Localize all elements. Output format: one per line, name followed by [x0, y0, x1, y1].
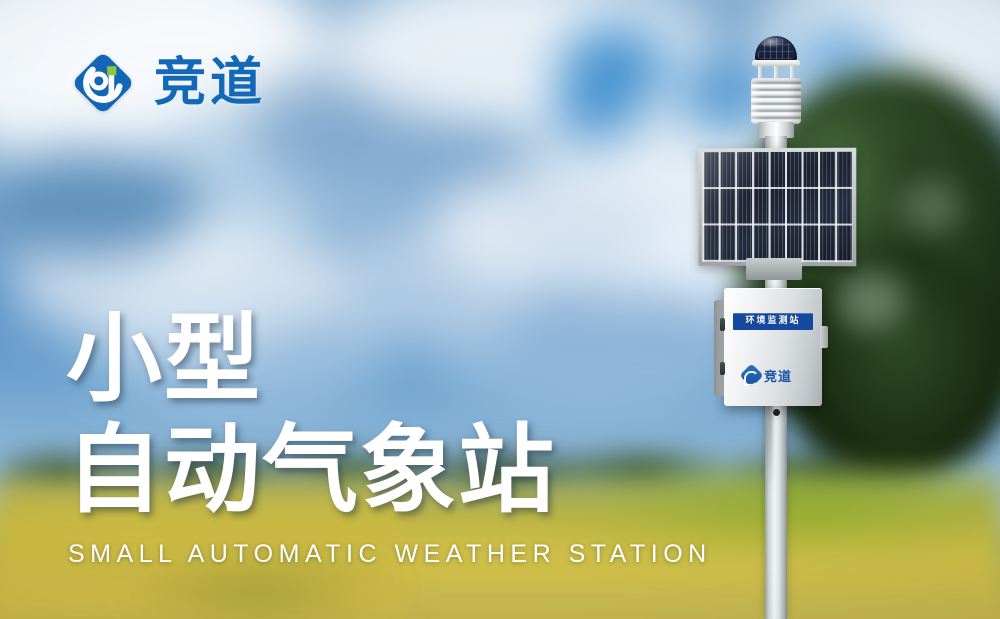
jingdao-diamond-logo-icon [68, 48, 138, 118]
solar-cell-grid [702, 152, 852, 262]
sensor-dome-icon [755, 36, 797, 62]
ultrasonic-weather-sensor [748, 36, 804, 146]
enclosure-brand-logo: 竞道 [743, 366, 792, 385]
solar-panel-mount [746, 258, 802, 280]
enclosure-banner-label: 环境监测站 [745, 317, 800, 326]
headline-line-2: 自动气象站 [66, 415, 556, 526]
pole-bolt [773, 409, 780, 416]
enclosure-latch [720, 362, 725, 375]
solar-panel [698, 148, 856, 267]
pole-shading [766, 400, 773, 490]
brand-name: 竞道 [154, 57, 266, 109]
enclosure-brand-label: 竞道 [764, 366, 792, 385]
controller-enclosure [724, 288, 822, 406]
brand-logo: 竞道 [68, 48, 266, 118]
enclosure-latch [720, 318, 725, 331]
enclosure-tab [820, 326, 828, 348]
promotional-banner: 环境监测站 竞道 竞道 小型 自动气象站 SMALL AUTOMATIC WEA… [0, 0, 1000, 619]
page-title: 小型 自动气象站 [66, 304, 556, 527]
enclosure-banner: 环境监测站 [733, 313, 813, 330]
radiation-shield [751, 78, 801, 124]
jingdao-diamond-logo-icon [739, 363, 763, 387]
headline-line-1: 小型 [66, 303, 262, 415]
page-subtitle: SMALL AUTOMATIC WEATHER STATION [68, 540, 712, 569]
